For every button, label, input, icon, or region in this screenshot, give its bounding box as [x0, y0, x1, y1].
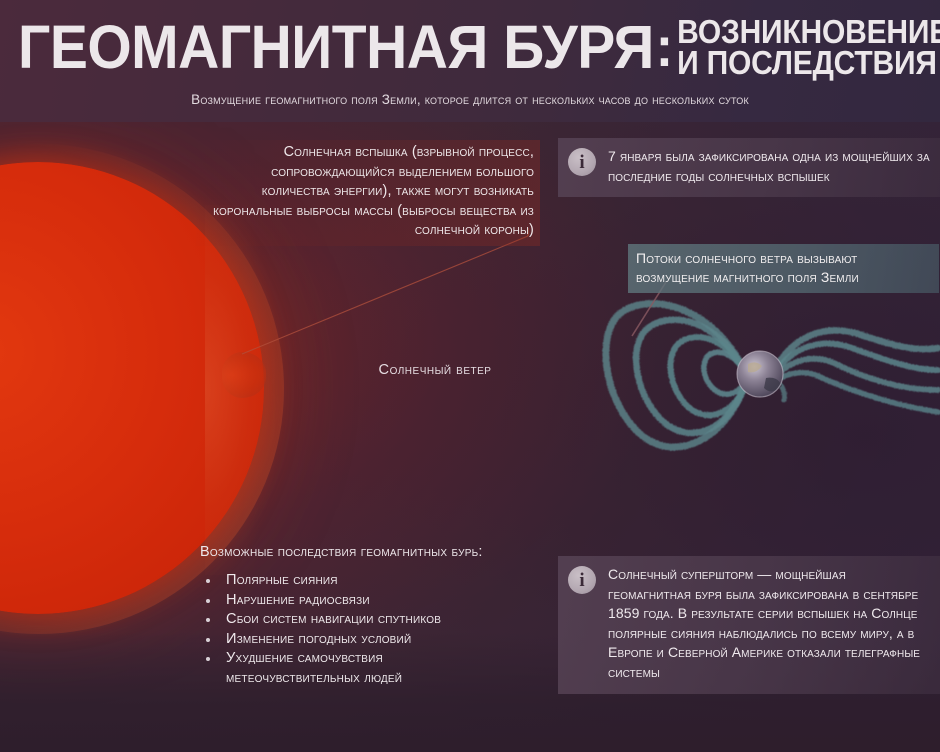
- consequences-title: Возможные последствия геомагнитных бурь:: [200, 544, 560, 560]
- info-box-flare-january: i 7 января была зафиксирована одна из мо…: [558, 138, 940, 197]
- info-icon: i: [568, 148, 596, 176]
- solar-wind-label: Солнечный ветер: [330, 362, 540, 378]
- list-item: Изменение погодных условий: [200, 630, 560, 650]
- info-icon: i: [568, 566, 596, 594]
- title-main: ГЕОМАГНИТНАЯ БУРЯ: [18, 14, 654, 81]
- page-title: ГЕОМАГНИТНАЯ БУРЯ : ВОЗНИКНОВЕНИЕ И ПОСЛ…: [18, 14, 940, 77]
- header-subtitle: Возмущение геомагнитного поля Земли, кот…: [0, 92, 940, 107]
- list-item: Сбои систем навигации спутников: [200, 610, 560, 630]
- sun-prominence: [222, 352, 266, 398]
- list-item-label: Сбои систем навигации спутников: [226, 611, 441, 627]
- header-banner: ГЕОМАГНИТНАЯ БУРЯ : ВОЗНИКНОВЕНИЕ И ПОСЛ…: [0, 0, 940, 122]
- title-colon: :: [656, 14, 673, 81]
- title-sub-line-2: И ПОСЛЕДСТВИЯ: [677, 46, 940, 81]
- solar-flare-callout: Солнечная вспышка (взрывной процесс, соп…: [196, 140, 540, 246]
- consequences-block: Возможные последствия геомагнитных бурь:…: [200, 544, 560, 689]
- list-item: Ухудшение самочувствия метеочувствительн…: [200, 649, 560, 688]
- list-item-label: Полярные сияния: [226, 572, 338, 588]
- list-item-label: Ухудшение самочувствия: [226, 650, 383, 666]
- list-item-label: Изменение погодных условий: [226, 631, 411, 647]
- list-item-label: Нарушение радиосвязи: [226, 592, 370, 608]
- earth-magnetosphere: [596, 286, 940, 468]
- info-box-text: 7 января была зафиксирована одна из мощн…: [608, 147, 930, 186]
- info-box-text: Солнечный супершторм — мощнейшая геомагн…: [608, 565, 930, 683]
- consequences-list: Полярные сияния Нарушение радиосвязи Сбо…: [200, 571, 560, 689]
- infographic-poster: ГЕОМАГНИТНАЯ БУРЯ : ВОЗНИКНОВЕНИЕ И ПОСЛ…: [0, 0, 940, 752]
- list-item: Нарушение радиосвязи: [200, 591, 560, 611]
- info-box-superstorm-1859: i Солнечный супершторм — мощнейшая геома…: [558, 556, 940, 694]
- list-item: Полярные сияния: [200, 571, 560, 591]
- list-item-label-continued: метеочувствительных людей: [226, 669, 560, 689]
- title-subtitle-stack: ВОЗНИКНОВЕНИЕ И ПОСЛЕДСТВИЯ: [677, 15, 940, 77]
- solar-wind-box: Потоки солнечного ветра вызывают возмуще…: [628, 244, 939, 293]
